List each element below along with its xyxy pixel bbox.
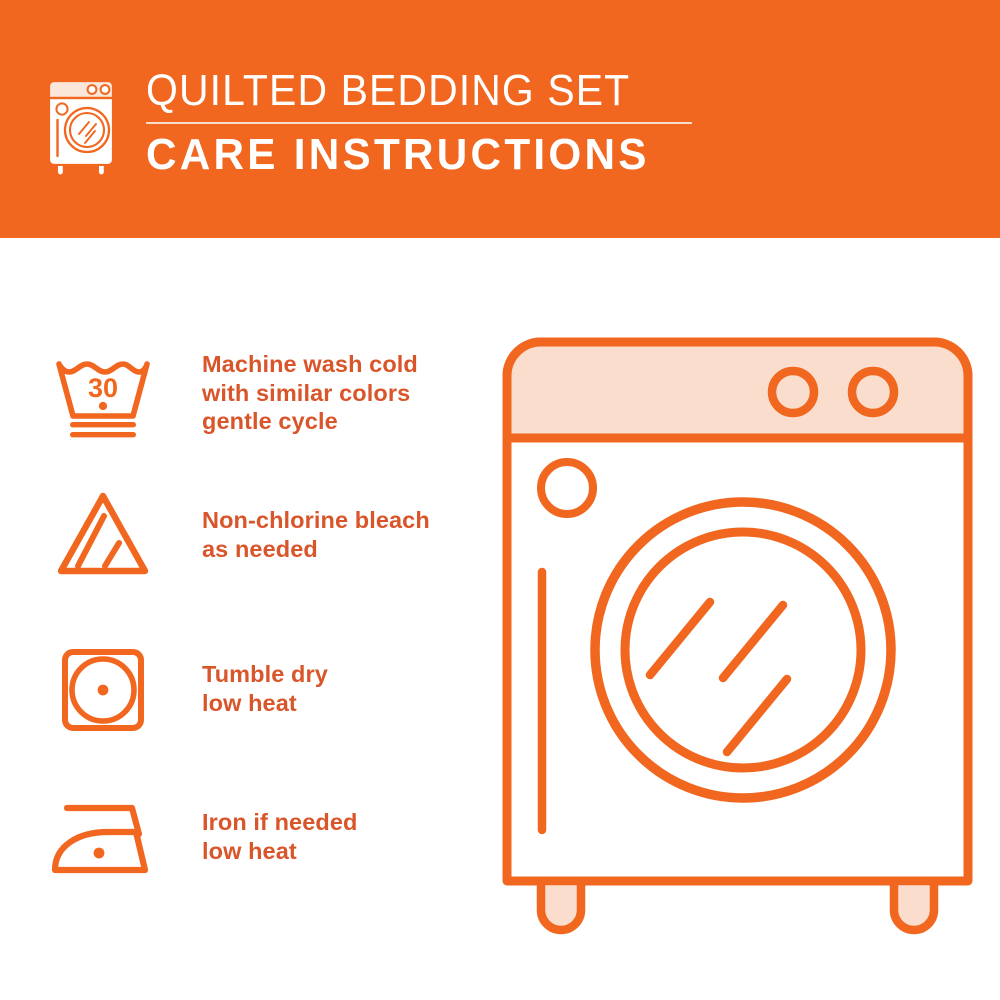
page-title: QUILTED BEDDING SET xyxy=(146,68,667,114)
wash-temperature-value: 30 xyxy=(88,373,118,403)
care-instruction-row: Iron if needed low heat xyxy=(48,794,357,884)
care-instruction-row: Tumble dry low heat xyxy=(48,638,328,738)
detergent-dispenser-circle xyxy=(541,462,593,514)
tumble-dry-icon xyxy=(48,638,158,738)
header-title-group: QUILTED BEDDING SET CARE INSTRUCTIONS xyxy=(146,68,706,179)
control-panel xyxy=(507,342,968,438)
care-instruction-list: 30 Machine wash cold with similar colors… xyxy=(0,238,500,1000)
leg-right xyxy=(894,881,934,930)
knob-left xyxy=(772,371,814,413)
care-instruction-row: 30 Machine wash cold with similar colors… xyxy=(48,344,418,444)
washing-machine-illustration xyxy=(495,330,980,940)
washing-machine-logo-icon xyxy=(44,72,124,176)
title-divider xyxy=(146,122,692,124)
wash-tub-icon: 30 xyxy=(48,344,158,444)
care-instruction-label: Non-chlorine bleach as needed xyxy=(158,486,430,563)
knob-right xyxy=(852,371,894,413)
header-banner: QUILTED BEDDING SET CARE INSTRUCTIONS xyxy=(0,0,1000,238)
page-subtitle: CARE INSTRUCTIONS xyxy=(146,131,684,179)
leg-left xyxy=(541,881,581,930)
care-instruction-label: Iron if needed low heat xyxy=(158,794,357,865)
care-instruction-label: Machine wash cold with similar colors ge… xyxy=(158,344,418,436)
care-instruction-label: Tumble dry low heat xyxy=(158,638,328,717)
bleach-triangle-icon xyxy=(48,486,158,586)
care-instruction-row: Non-chlorine bleach as needed xyxy=(48,486,430,586)
iron-icon xyxy=(48,794,158,884)
